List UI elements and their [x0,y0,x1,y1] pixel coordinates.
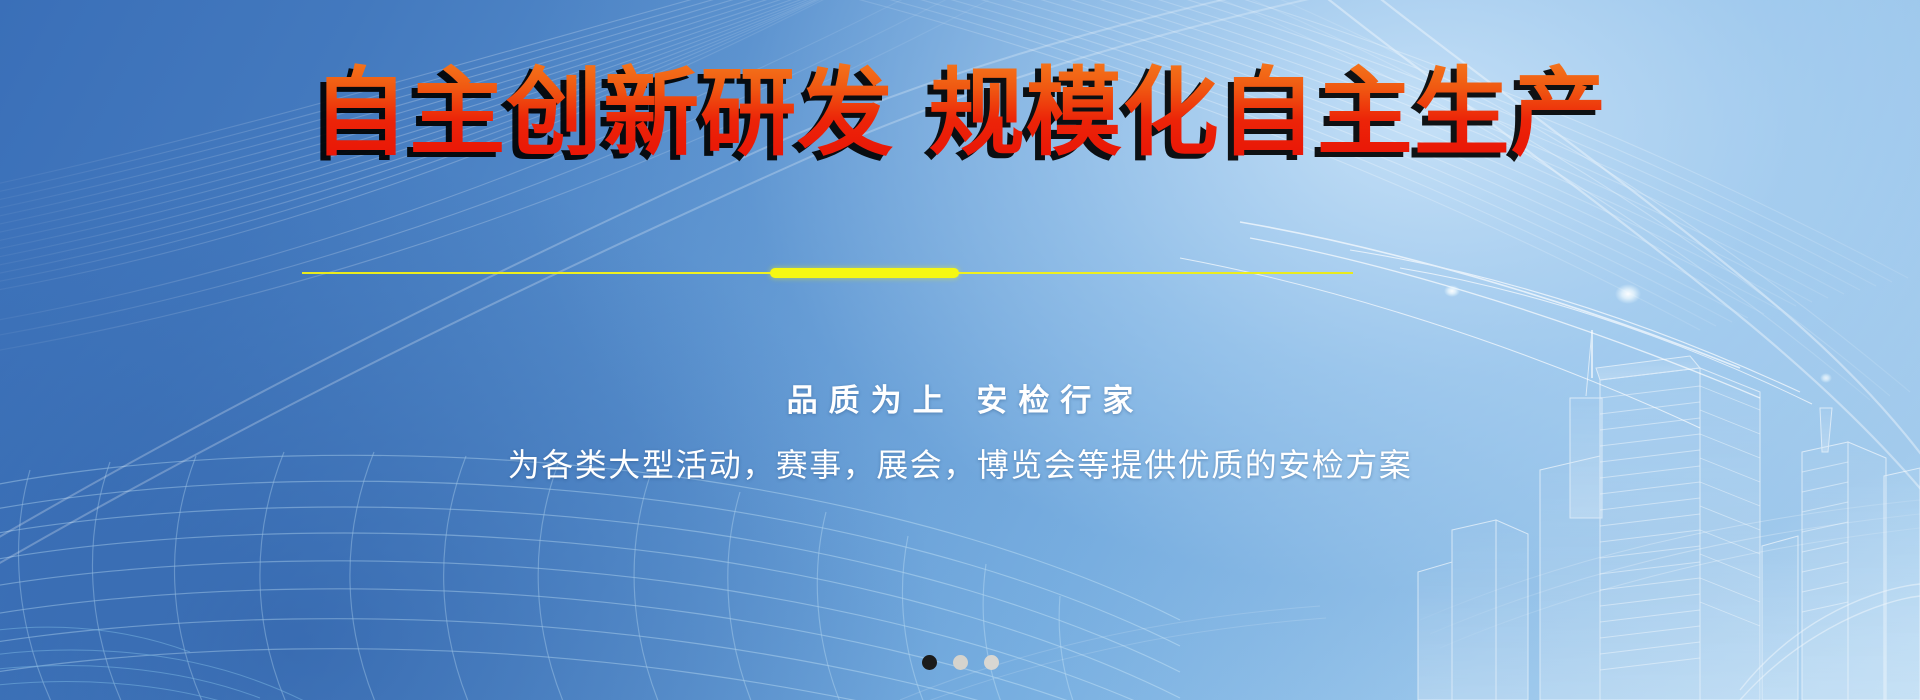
divider-thick-bar [770,268,959,278]
carousel-dot-1[interactable] [922,655,937,670]
hero-banner: 自主创新研发 规模化自主生产 品质为上 安检行家 为各类大型活动，赛事，展会，博… [0,0,1920,700]
banner-sub-description: 为各类大型活动，赛事，展会，博览会等提供优质的安检方案 [0,440,1920,486]
carousel-dot-2[interactable] [953,655,968,670]
banner-headline: 自主创新研发 规模化自主生产 [312,62,1607,166]
banner-sub-slogan: 品质为上 安检行家 [0,375,1920,420]
yellow-divider [302,268,1353,278]
headline-container: 自主创新研发 规模化自主生产 [0,62,1920,166]
carousel-dots [0,655,1920,670]
carousel-dot-3[interactable] [984,655,999,670]
